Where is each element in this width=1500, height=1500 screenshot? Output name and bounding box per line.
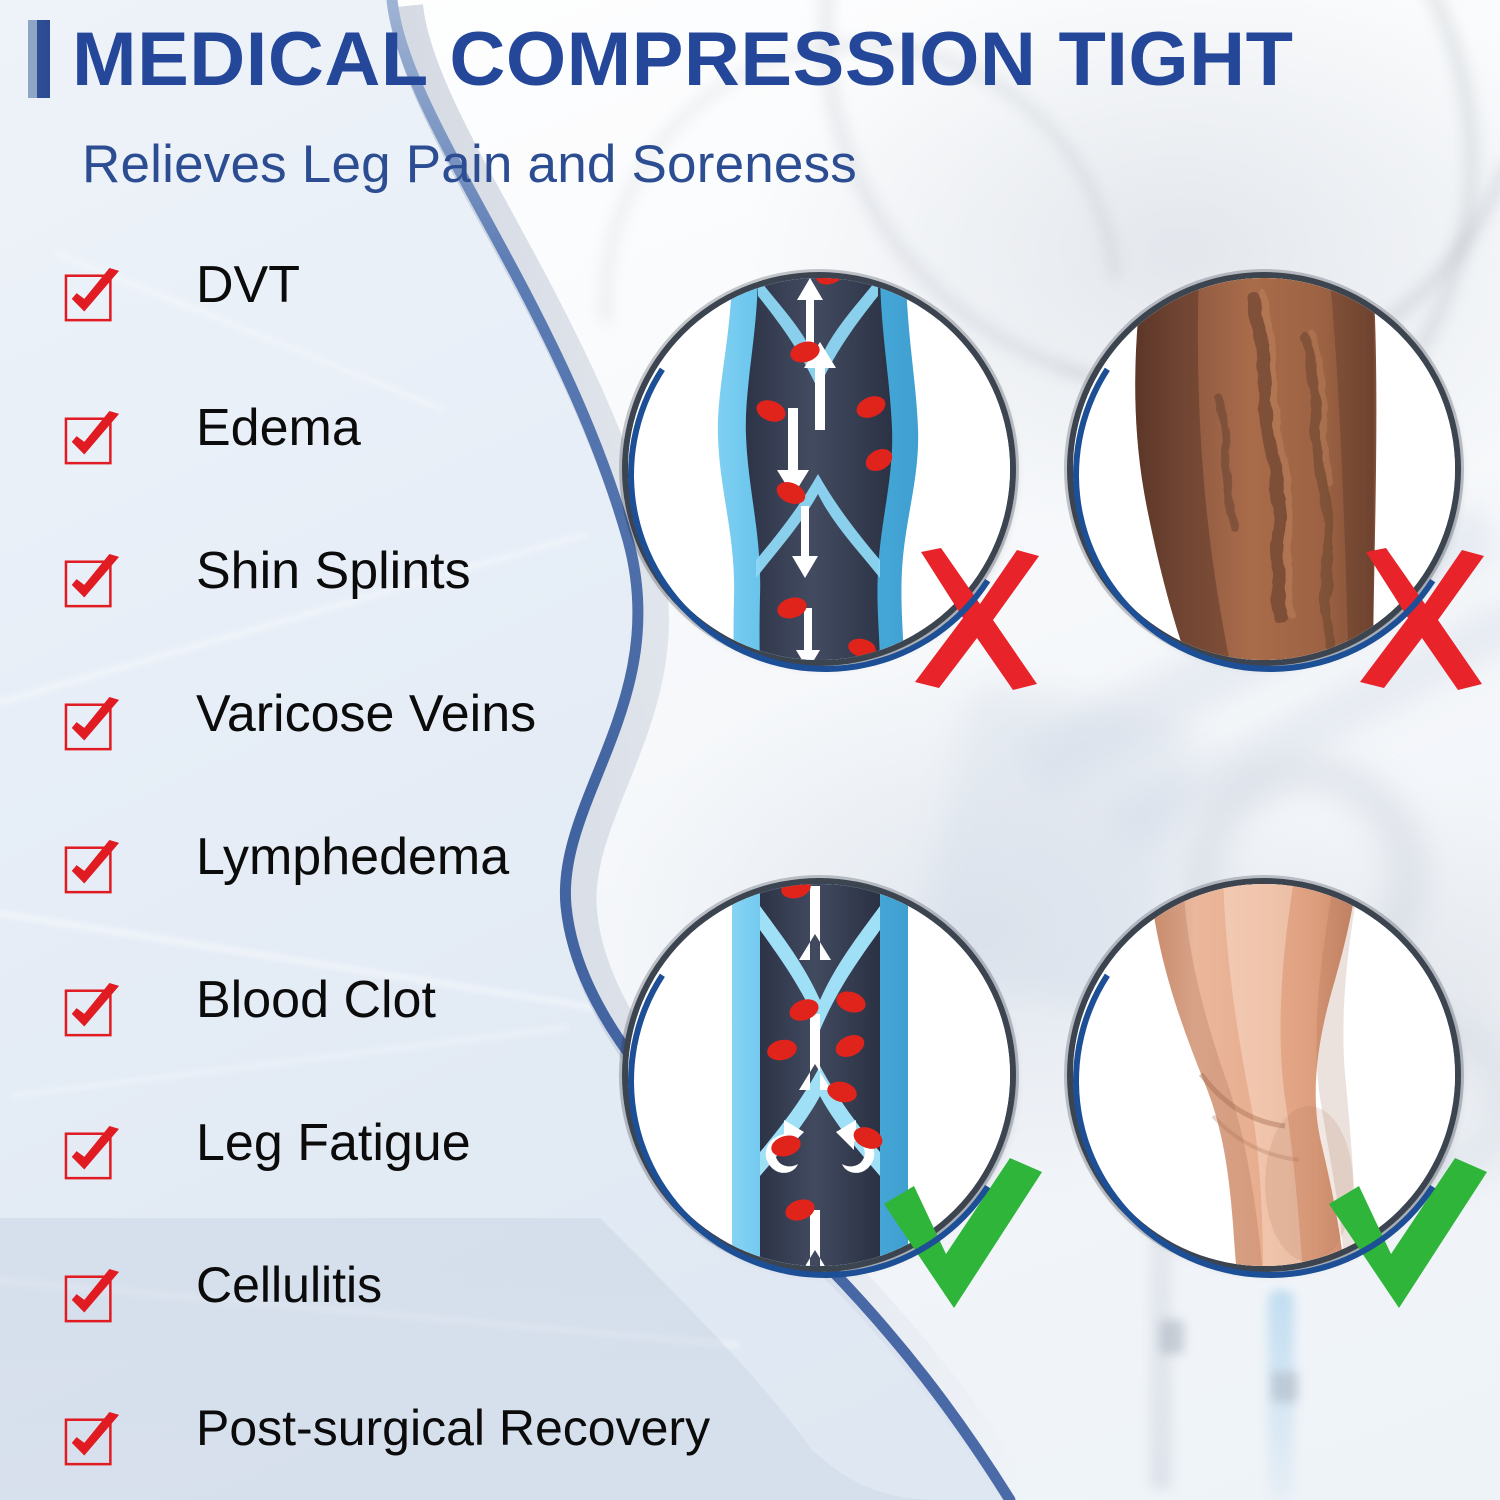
healthy-vein-illustration [628, 884, 1010, 1266]
list-item: Cellulitis [64, 1259, 844, 1402]
list-item-label: Cellulitis [196, 1255, 382, 1315]
checkbox-checked-icon [64, 411, 122, 467]
panel-unhealthy-vein [628, 278, 1010, 660]
checkbox-checked-icon [64, 268, 122, 324]
list-item-label: Varicose Veins [196, 683, 536, 745]
checkbox-checked-icon [64, 1412, 122, 1468]
healthy-leg-photo [1073, 884, 1455, 1266]
panel-healthy-leg [1073, 884, 1455, 1266]
varicose-leg-photo [1073, 278, 1455, 660]
infographic-root: MEDICAL COMPRESSION TIGHT Relieves Leg P… [0, 0, 1500, 1500]
panel-varicose-leg [1073, 278, 1455, 660]
list-item-label: Shin Splints [196, 540, 471, 602]
checkbox-checked-icon [64, 983, 122, 1039]
checkbox-checked-icon [64, 697, 122, 753]
checkbox-checked-icon [64, 1126, 122, 1182]
list-item: Post-surgical Recovery [64, 1402, 844, 1500]
list-item-label: Lymphedema [196, 826, 509, 888]
list-item-label: Edema [196, 397, 361, 459]
list-item-label: DVT [196, 254, 300, 316]
title-accent-bar [28, 20, 50, 98]
checkbox-checked-icon [64, 554, 122, 610]
list-item-label: Post-surgical Recovery [196, 1398, 710, 1458]
checkbox-checked-icon [64, 840, 122, 896]
page-subtitle: Relieves Leg Pain and Soreness [82, 134, 857, 195]
list-item-label: Leg Fatigue [196, 1112, 471, 1174]
panel-healthy-vein [628, 884, 1010, 1266]
page-title: MEDICAL COMPRESSION TIGHT [72, 16, 1500, 103]
list-item: Varicose Veins [64, 687, 844, 830]
checkbox-checked-icon [64, 1269, 122, 1325]
list-item-label: Blood Clot [196, 969, 436, 1031]
unhealthy-vein-illustration [628, 278, 1010, 660]
